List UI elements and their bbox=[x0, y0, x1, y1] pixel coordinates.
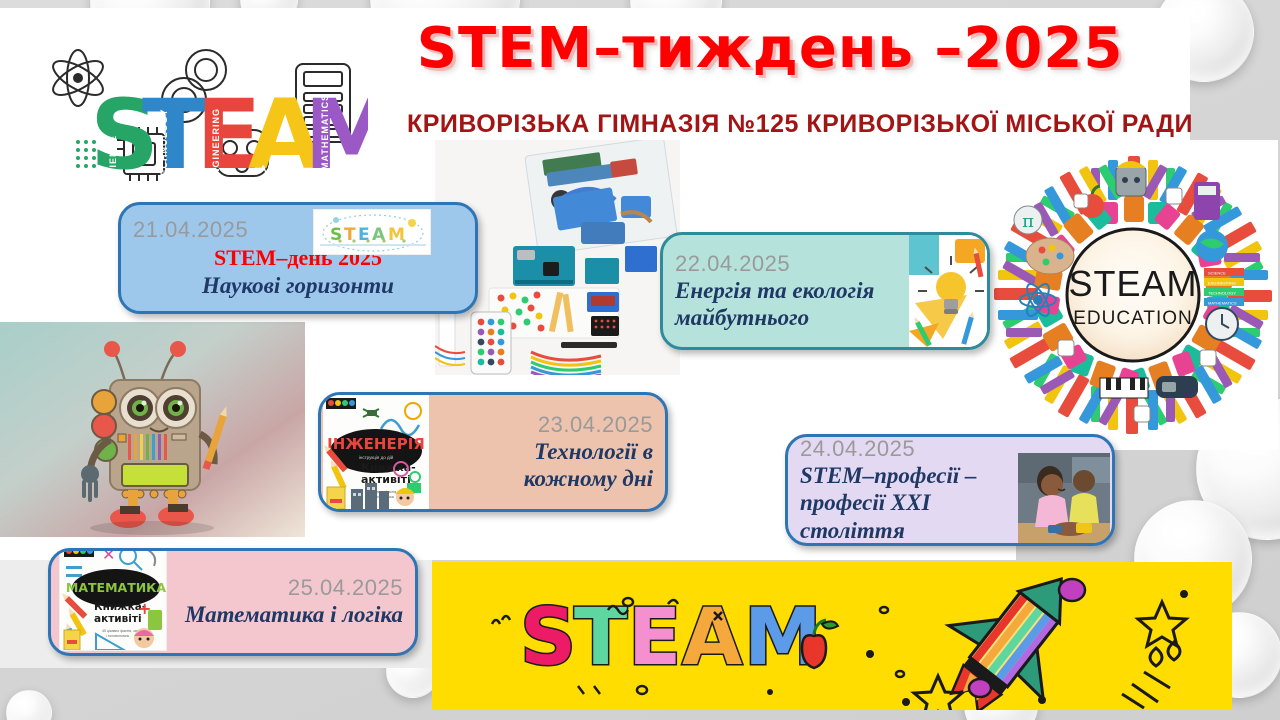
event-theme: Математика і логіка bbox=[173, 601, 403, 628]
label-technology: TECHNOLOGY bbox=[159, 108, 169, 182]
globe-icon bbox=[1196, 230, 1228, 262]
book-title: МАТЕМАТИКА bbox=[66, 580, 166, 595]
page-title: STEM–тиждень –2025 bbox=[330, 16, 1210, 81]
steam-badge-thumbnail: S T E A M bbox=[313, 209, 431, 255]
slide-canvas: S T E A M SCIENCE TECHNOLOGY ENGINEERING… bbox=[0, 0, 1280, 720]
robot-icon bbox=[1116, 161, 1146, 196]
event-card-24-04[interactable]: 24.04.2025 STEM–професії – професії XXI … bbox=[785, 434, 1115, 546]
calculator-icon bbox=[1194, 182, 1220, 220]
event-card-25-04[interactable]: ✕ МАТЕМАТИКА Книжка- активіті 45 цікавих… bbox=[48, 548, 418, 656]
clock-icon bbox=[1206, 308, 1238, 340]
svg-text:і головоломок: і головоломок bbox=[106, 634, 129, 638]
collage-subtitle: EDUCATION bbox=[1073, 308, 1192, 329]
svg-text:SCIENCE: SCIENCE bbox=[1208, 271, 1226, 276]
svg-text:TECHNOLOGY: TECHNOLOGY bbox=[1208, 291, 1236, 296]
banner-letter-e: E bbox=[628, 593, 681, 683]
event-date: 25.04.2025 bbox=[173, 575, 403, 601]
banner-letter-t: T bbox=[574, 593, 627, 683]
steam-banner: S T E A M bbox=[432, 562, 1232, 710]
robot-photo bbox=[0, 322, 305, 537]
event-theme: Енергія та екологія майбутнього bbox=[675, 277, 913, 331]
collage-title: STEAM bbox=[1068, 263, 1197, 304]
svg-text:π: π bbox=[1022, 211, 1034, 232]
palette-icon bbox=[1026, 238, 1074, 274]
book-title: ІНЖЕНЕРІЯ bbox=[327, 435, 425, 453]
event-card-21-04[interactable]: 21.04.2025 STEM–день 2025 Наукові горизо… bbox=[118, 202, 478, 314]
svg-text:активіті: активіті bbox=[94, 613, 142, 625]
event-card-23-04[interactable]: ІНЖЕНЕРІЯ інструкція до дій Книжка- акти… bbox=[318, 392, 668, 512]
event-date: 22.04.2025 bbox=[675, 251, 913, 277]
event-theme: STEM–професії – професії XXI століття bbox=[800, 462, 1032, 543]
event-date: 23.04.2025 bbox=[441, 412, 653, 438]
event-card-text: 23.04.2025 Технології в кожному дні bbox=[429, 406, 665, 498]
label-engineering: ENGINEERING bbox=[211, 108, 221, 182]
label-science: SCIENCE bbox=[108, 135, 118, 182]
label-arts: ARTS bbox=[260, 164, 289, 174]
event-theme: Технології в кожному дні bbox=[441, 438, 653, 492]
school-subtitle: КРИВОРІЗЬКА ГІМНАЗІЯ №125 КРИВОРІЗЬКОЇ М… bbox=[330, 110, 1270, 139]
students-photo-thumbnail bbox=[1018, 453, 1110, 543]
banner-letter-a: A bbox=[682, 593, 742, 683]
steam-education-collage: π SCIENCE ENGINEERING TECHNOLOGY MATHEMA… bbox=[988, 150, 1278, 440]
piano-icon bbox=[1100, 378, 1148, 398]
steam-wordmark-logo: S T E A M SCIENCE TECHNOLOGY ENGINEERING… bbox=[38, 38, 368, 188]
label-mathematics: MATHEMATICS bbox=[320, 94, 330, 170]
event-theme: Наукові горизонти bbox=[133, 272, 463, 299]
lightbulb-photo-thumbnail bbox=[909, 235, 987, 347]
engineering-book-thumbnail: ІНЖЕНЕРІЯ інструкція до дій Книжка- акти… bbox=[323, 395, 429, 509]
svg-text:інструкція до дій: інструкція до дій bbox=[359, 454, 394, 460]
svg-text:M: M bbox=[388, 225, 405, 245]
vr-headset-icon bbox=[1156, 376, 1198, 398]
svg-text:✕: ✕ bbox=[102, 548, 115, 564]
banner-letter-s: S bbox=[520, 593, 576, 683]
pi-icon: π bbox=[1014, 206, 1042, 234]
decorative-bubble bbox=[6, 690, 52, 720]
event-date: 24.04.2025 bbox=[800, 436, 1032, 462]
svg-text:ENGINEERING: ENGINEERING bbox=[1208, 281, 1236, 286]
svg-text:MATHEMATICS: MATHEMATICS bbox=[1208, 301, 1237, 306]
event-card-22-04[interactable]: 22.04.2025 Енергія та екологія майбутньо… bbox=[660, 232, 990, 350]
math-book-thumbnail: ✕ МАТЕМАТИКА Книжка- активіті 45 цікавих… bbox=[59, 548, 167, 651]
